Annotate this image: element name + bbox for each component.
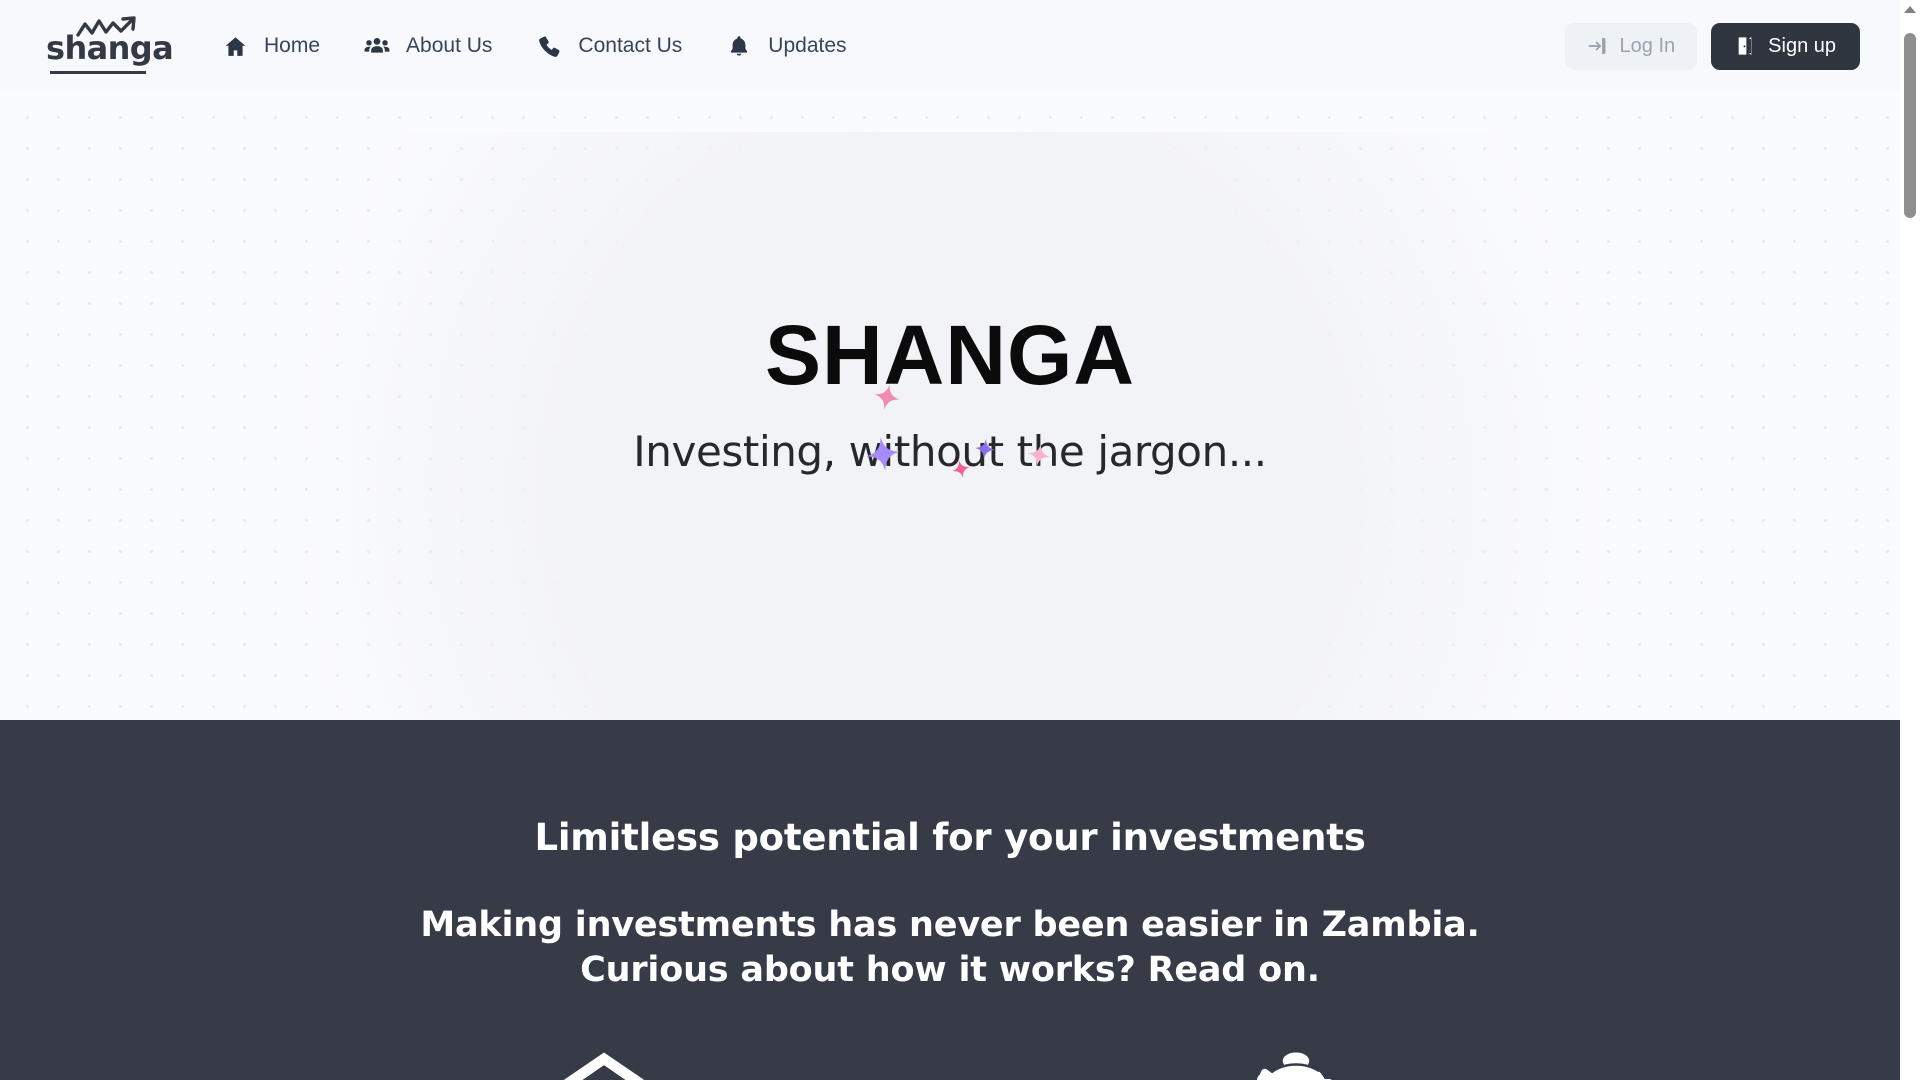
bell-icon (726, 33, 752, 59)
scroll-up-arrow-icon[interactable] (1904, 6, 1916, 13)
nav-item-home-label: Home (264, 34, 320, 58)
phone-icon (536, 33, 562, 59)
signup-button[interactable]: Sign up (1711, 23, 1860, 70)
login-button-label: Log In (1620, 35, 1676, 58)
brand-wordmark: shanga (46, 29, 150, 67)
brand-logo[interactable]: shanga (46, 15, 150, 78)
nav-item-updates[interactable]: Updates (704, 23, 868, 69)
hero-title-wrap: SHANGA (765, 307, 1135, 403)
nav-actions: Log In Sign up (1565, 23, 1860, 70)
scrollbar-thumb[interactable] (1904, 33, 1916, 218)
signup-button-label: Sign up (1768, 35, 1836, 58)
info-subheading: Making investments has never been easier… (385, 903, 1515, 993)
top-navbar: shanga Home (0, 0, 1900, 92)
page-root: shanga Home (0, 0, 1920, 1080)
hero-content: SHANGA Investing, without the jargon... (0, 307, 1900, 476)
feature-row (0, 1041, 1900, 1080)
piggy-bank-icon (1250, 1041, 1342, 1080)
brand-underline (50, 71, 146, 74)
nav-item-about-us[interactable]: About Us (342, 23, 514, 69)
browser-viewport: shanga Home (0, 0, 1900, 1080)
people-group-icon (364, 33, 390, 59)
nav-links: Home About Us (200, 23, 1565, 69)
hero-subtitle: Investing, without the jargon... (0, 427, 1900, 476)
vertical-scrollbar[interactable] (1900, 0, 1920, 1080)
login-arrow-icon (1587, 35, 1609, 57)
info-heading: Limitless potential for your investments (0, 816, 1900, 859)
login-button[interactable]: Log In (1565, 23, 1698, 70)
hero-section: SHANGA Investing, without the jargon... (0, 92, 1900, 720)
info-section: Limitless potential for your investments… (0, 720, 1900, 1080)
family-home-icon (558, 1041, 650, 1080)
nav-item-about-us-label: About Us (406, 34, 492, 58)
door-open-icon (1735, 35, 1757, 57)
home-icon (222, 33, 248, 59)
nav-item-updates-label: Updates (768, 34, 846, 58)
brand-mark: shanga (46, 15, 150, 69)
nav-item-contact-us-label: Contact Us (578, 34, 682, 58)
nav-item-contact-us[interactable]: Contact Us (514, 23, 704, 69)
nav-item-home[interactable]: Home (200, 23, 342, 69)
page-title: SHANGA (765, 307, 1135, 403)
